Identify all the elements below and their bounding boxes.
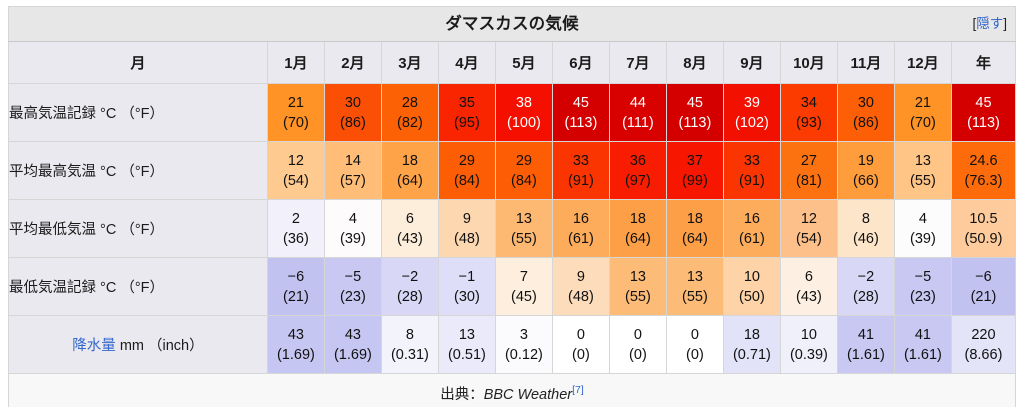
table-row: 平均最高気温 °C （°F） 12(54)14(57)18(64)29(84)2… [9, 142, 1016, 200]
cell-value-fahrenheit: (54) [781, 229, 837, 249]
cell-value-celsius: 10 [724, 267, 780, 287]
cell-value-fahrenheit: (0.71) [724, 345, 780, 365]
hide-link-label[interactable]: 隠す [976, 16, 1003, 31]
data-cell: 29(84) [495, 142, 552, 200]
cell-value-celsius: 45 [553, 93, 609, 113]
cell-value-celsius: 37 [667, 151, 723, 171]
cell-value-fahrenheit: (45) [496, 287, 552, 307]
data-cell: 10(0.39) [780, 316, 837, 374]
column-header-jun: 6月 [552, 42, 609, 84]
cell-value-fahrenheit: (64) [667, 229, 723, 249]
column-header-aug: 8月 [666, 42, 723, 84]
cell-value-fahrenheit: (55) [667, 287, 723, 307]
row-label-record-low: 最低気温記録 °C （°F） [9, 258, 268, 316]
cell-value-celsius: 38 [496, 93, 552, 113]
data-cell: 18(64) [666, 200, 723, 258]
cell-value-celsius: 35 [439, 93, 495, 113]
data-cell: 45(113) [666, 84, 723, 142]
cell-value-fahrenheit: (43) [781, 287, 837, 307]
data-cell: 18(64) [381, 142, 438, 200]
data-cell: 24.6(76.3) [951, 142, 1015, 200]
source-row: 出典：BBC Weather[7] [9, 374, 1016, 407]
cell-value-celsius: 33 [553, 151, 609, 171]
column-header-dec: 12月 [894, 42, 951, 84]
data-cell: 18(64) [609, 200, 666, 258]
cell-value-celsius: 44 [610, 93, 666, 113]
cell-value-celsius: 14 [325, 151, 381, 171]
cell-value-fahrenheit: (70) [895, 113, 951, 133]
cell-value-fahrenheit: (0) [553, 345, 609, 365]
cell-value-fahrenheit: (0.39) [781, 345, 837, 365]
data-cell: 34(93) [780, 84, 837, 142]
climate-table-body: ダマスカスの気候 [隠す] 月 1月 2月 3月 4月 5月 6月 7月 8月 … [9, 7, 1016, 407]
data-cell: −2(28) [837, 258, 894, 316]
cell-value-celsius: 45 [667, 93, 723, 113]
cell-value-fahrenheit: (84) [439, 171, 495, 191]
cell-value-celsius: 10.5 [952, 209, 1015, 229]
cell-value-celsius: −6 [952, 267, 1015, 287]
cell-value-celsius: 16 [553, 209, 609, 229]
cell-value-celsius: −6 [268, 267, 324, 287]
row-label-precipitation: 降水量 mm （inch） [9, 316, 268, 374]
cell-value-fahrenheit: (55) [610, 287, 666, 307]
cell-value-fahrenheit: (1.69) [268, 345, 324, 365]
data-cell: 33(91) [723, 142, 780, 200]
cell-value-celsius: 24.6 [952, 151, 1015, 171]
cell-value-fahrenheit: (0) [667, 345, 723, 365]
cell-value-fahrenheit: (48) [439, 229, 495, 249]
data-cell: 4(39) [324, 200, 381, 258]
data-cell: 0(0) [552, 316, 609, 374]
cell-value-celsius: 220 [952, 325, 1015, 345]
data-cell: −2(28) [381, 258, 438, 316]
bracket-close: ] [1003, 16, 1007, 31]
cell-value-fahrenheit: (36) [268, 229, 324, 249]
cell-value-fahrenheit: (54) [268, 171, 324, 191]
source-cell: 出典：BBC Weather[7] [9, 374, 1016, 407]
cell-value-fahrenheit: (0.12) [496, 345, 552, 365]
data-cell: 45(113) [951, 84, 1015, 142]
cell-value-celsius: 30 [325, 93, 381, 113]
cell-value-celsius: 34 [781, 93, 837, 113]
data-cell: 13(55) [609, 258, 666, 316]
cell-value-celsius: 12 [268, 151, 324, 171]
column-header-year: 年 [951, 42, 1015, 84]
cell-value-fahrenheit: (23) [895, 287, 951, 307]
cell-value-fahrenheit: (64) [382, 171, 438, 191]
cell-value-fahrenheit: (28) [382, 287, 438, 307]
data-cell: 33(91) [552, 142, 609, 200]
column-header-month: 月 [9, 42, 268, 84]
hide-toggle[interactable]: [隠す] [972, 7, 1007, 41]
cell-value-fahrenheit: (21) [952, 287, 1015, 307]
cell-value-celsius: −2 [382, 267, 438, 287]
cell-value-fahrenheit: (21) [268, 287, 324, 307]
data-cell: 6(43) [780, 258, 837, 316]
cell-value-fahrenheit: (39) [325, 229, 381, 249]
cell-value-celsius: 3 [496, 325, 552, 345]
cell-value-fahrenheit: (61) [724, 229, 780, 249]
data-cell: 44(111) [609, 84, 666, 142]
cell-value-celsius: 45 [952, 93, 1015, 113]
cell-value-celsius: 13 [667, 267, 723, 287]
cell-value-celsius: 6 [382, 209, 438, 229]
page-title: ダマスカスの気候 [445, 15, 579, 33]
cell-value-celsius: 6 [781, 267, 837, 287]
table-title-cell: ダマスカスの気候 [隠す] [9, 7, 1016, 42]
table-title-row: ダマスカスの気候 [隠す] [9, 7, 1016, 42]
cell-value-fahrenheit: (93) [781, 113, 837, 133]
column-header-nov: 11月 [837, 42, 894, 84]
data-cell: 6(43) [381, 200, 438, 258]
cell-value-fahrenheit: (30) [439, 287, 495, 307]
column-header-jul: 7月 [609, 42, 666, 84]
cell-value-fahrenheit: (0.51) [439, 345, 495, 365]
cell-value-celsius: 36 [610, 151, 666, 171]
data-cell: 30(86) [837, 84, 894, 142]
table-row: 最低気温記録 °C （°F） −6(21)−5(23)−2(28)−1(30)7… [9, 258, 1016, 316]
cell-value-fahrenheit: (91) [724, 171, 780, 191]
data-cell: −5(23) [324, 258, 381, 316]
cell-value-fahrenheit: (113) [952, 113, 1015, 133]
data-cell: 13(55) [495, 200, 552, 258]
data-cell: 21(70) [267, 84, 324, 142]
cell-value-celsius: 18 [667, 209, 723, 229]
cell-value-fahrenheit: (61) [553, 229, 609, 249]
cell-value-celsius: 16 [724, 209, 780, 229]
data-cell: 220(8.66) [951, 316, 1015, 374]
data-cell: 13(55) [894, 142, 951, 200]
cell-value-celsius: 8 [382, 325, 438, 345]
cell-value-fahrenheit: (8.66) [952, 345, 1015, 365]
cell-value-celsius: 18 [382, 151, 438, 171]
cell-value-fahrenheit: (1.61) [895, 345, 951, 365]
data-cell: 18(0.71) [723, 316, 780, 374]
data-cell: 8(46) [837, 200, 894, 258]
cell-value-celsius: 10 [781, 325, 837, 345]
cell-value-fahrenheit: (70) [268, 113, 324, 133]
cell-value-fahrenheit: (102) [724, 113, 780, 133]
cell-value-celsius: 13 [610, 267, 666, 287]
cell-value-celsius: 12 [781, 209, 837, 229]
cell-value-fahrenheit: (43) [382, 229, 438, 249]
data-cell: 29(84) [438, 142, 495, 200]
data-cell: 16(61) [723, 200, 780, 258]
cell-value-celsius: 13 [496, 209, 552, 229]
data-cell: 28(82) [381, 84, 438, 142]
data-cell: 10(50) [723, 258, 780, 316]
data-cell: −6(21) [267, 258, 324, 316]
data-cell: 41(1.61) [894, 316, 951, 374]
cell-value-celsius: 2 [268, 209, 324, 229]
table-row: 平均最低気温 °C （°F） 2(36)4(39)6(43)9(48)13(55… [9, 200, 1016, 258]
row-label-text: mm （inch） [116, 338, 204, 354]
cell-value-fahrenheit: (97) [610, 171, 666, 191]
data-cell: 21(70) [894, 84, 951, 142]
cell-value-fahrenheit: (76.3) [952, 171, 1015, 191]
row-label-mean-high: 平均最高気温 °C （°F） [9, 142, 268, 200]
source-reference[interactable]: [7] [572, 384, 584, 396]
cell-value-fahrenheit: (55) [496, 229, 552, 249]
cell-value-celsius: 43 [268, 325, 324, 345]
cell-value-fahrenheit: (100) [496, 113, 552, 133]
data-cell: 38(100) [495, 84, 552, 142]
data-cell: 43(1.69) [324, 316, 381, 374]
cell-value-celsius: 21 [268, 93, 324, 113]
cell-value-fahrenheit: (81) [781, 171, 837, 191]
cell-value-celsius: 13 [439, 325, 495, 345]
climate-table: ダマスカスの気候 [隠す] 月 1月 2月 3月 4月 5月 6月 7月 8月 … [8, 6, 1016, 407]
data-cell: 16(61) [552, 200, 609, 258]
data-cell: 13(0.51) [438, 316, 495, 374]
data-cell: 43(1.69) [267, 316, 324, 374]
data-cell: 8(0.31) [381, 316, 438, 374]
cell-value-fahrenheit: (113) [553, 113, 609, 133]
data-cell: 14(57) [324, 142, 381, 200]
data-cell: 30(86) [324, 84, 381, 142]
column-header-feb: 2月 [324, 42, 381, 84]
cell-value-fahrenheit: (46) [838, 229, 894, 249]
cell-value-celsius: 4 [895, 209, 951, 229]
data-cell: 39(102) [723, 84, 780, 142]
cell-value-celsius: 0 [667, 325, 723, 345]
cell-value-fahrenheit: (111) [610, 113, 666, 133]
cell-value-fahrenheit: (66) [838, 171, 894, 191]
cell-value-fahrenheit: (39) [895, 229, 951, 249]
data-cell: 3(0.12) [495, 316, 552, 374]
cell-value-fahrenheit: (0.31) [382, 345, 438, 365]
cell-value-fahrenheit: (82) [382, 113, 438, 133]
data-cell: 12(54) [780, 200, 837, 258]
cell-value-celsius: −1 [439, 267, 495, 287]
column-header-jan: 1月 [267, 42, 324, 84]
data-cell: −1(30) [438, 258, 495, 316]
cell-value-celsius: 33 [724, 151, 780, 171]
cell-value-fahrenheit: (84) [496, 171, 552, 191]
data-cell: 12(54) [267, 142, 324, 200]
table-row: 降水量 mm （inch） 43(1.69)43(1.69)8(0.31)13(… [9, 316, 1016, 374]
cell-value-celsius: 21 [895, 93, 951, 113]
cell-value-celsius: 9 [553, 267, 609, 287]
cell-value-celsius: 41 [838, 325, 894, 345]
cell-value-fahrenheit: (113) [667, 113, 723, 133]
cell-value-celsius: 41 [895, 325, 951, 345]
cell-value-celsius: −2 [838, 267, 894, 287]
data-cell: 4(39) [894, 200, 951, 258]
data-cell: −6(21) [951, 258, 1015, 316]
cell-value-celsius: 7 [496, 267, 552, 287]
column-header-apr: 4月 [438, 42, 495, 84]
cell-value-celsius: 18 [610, 209, 666, 229]
column-header-sep: 9月 [723, 42, 780, 84]
cell-value-celsius: 4 [325, 209, 381, 229]
data-cell: 9(48) [438, 200, 495, 258]
row-label-text: 平均最低気温 °C （°F） [9, 222, 164, 238]
cell-value-fahrenheit: (86) [838, 113, 894, 133]
cell-value-celsius: 18 [724, 325, 780, 345]
data-cell: 7(45) [495, 258, 552, 316]
column-header-may: 5月 [495, 42, 552, 84]
cell-value-fahrenheit: (23) [325, 287, 381, 307]
source-name: BBC Weather [484, 387, 572, 403]
row-label-record-high: 最高気温記録 °C （°F） [9, 84, 268, 142]
cell-value-fahrenheit: (0) [610, 345, 666, 365]
cell-value-celsius: 43 [325, 325, 381, 345]
cell-value-celsius: 27 [781, 151, 837, 171]
data-cell: 13(55) [666, 258, 723, 316]
cell-value-celsius: 30 [838, 93, 894, 113]
cell-value-fahrenheit: (48) [553, 287, 609, 307]
cell-value-fahrenheit: (99) [667, 171, 723, 191]
data-cell: 0(0) [609, 316, 666, 374]
cell-value-fahrenheit: (57) [325, 171, 381, 191]
row-label-text: 最高気温記録 °C （°F） [9, 106, 164, 122]
cell-value-fahrenheit: (95) [439, 113, 495, 133]
cell-value-fahrenheit: (91) [553, 171, 609, 191]
cell-value-celsius: −5 [325, 267, 381, 287]
column-header-mar: 3月 [381, 42, 438, 84]
cell-value-celsius: −5 [895, 267, 951, 287]
data-cell: 9(48) [552, 258, 609, 316]
cell-value-fahrenheit: (1.69) [325, 345, 381, 365]
cell-value-celsius: 29 [496, 151, 552, 171]
data-cell: 27(81) [780, 142, 837, 200]
data-cell: −5(23) [894, 258, 951, 316]
cell-value-fahrenheit: (64) [610, 229, 666, 249]
precipitation-link[interactable]: 降水量 [72, 338, 116, 354]
column-header-oct: 10月 [780, 42, 837, 84]
cell-value-fahrenheit: (1.61) [838, 345, 894, 365]
cell-value-celsius: 8 [838, 209, 894, 229]
cell-value-fahrenheit: (86) [325, 113, 381, 133]
data-cell: 0(0) [666, 316, 723, 374]
data-cell: 37(99) [666, 142, 723, 200]
data-cell: 45(113) [552, 84, 609, 142]
climate-table-container: ダマスカスの気候 [隠す] 月 1月 2月 3月 4月 5月 6月 7月 8月 … [0, 0, 1024, 407]
title-inner: ダマスカスの気候 [隠す] [9, 7, 1015, 41]
data-cell: 19(66) [837, 142, 894, 200]
data-cell: 10.5(50.9) [951, 200, 1015, 258]
cell-value-fahrenheit: (55) [895, 171, 951, 191]
cell-value-celsius: 0 [610, 325, 666, 345]
cell-value-celsius: 39 [724, 93, 780, 113]
cell-value-fahrenheit: (50.9) [952, 229, 1015, 249]
data-cell: 35(95) [438, 84, 495, 142]
data-cell: 36(97) [609, 142, 666, 200]
table-row: 最高気温記録 °C （°F） 21(70)30(86)28(82)35(95)3… [9, 84, 1016, 142]
cell-value-fahrenheit: (50) [724, 287, 780, 307]
row-label-mean-low: 平均最低気温 °C （°F） [9, 200, 268, 258]
row-label-text: 平均最高気温 °C （°F） [9, 164, 164, 180]
row-label-text: 最低気温記録 °C （°F） [9, 280, 164, 296]
data-cell: 41(1.61) [837, 316, 894, 374]
cell-value-fahrenheit: (28) [838, 287, 894, 307]
cell-value-celsius: 0 [553, 325, 609, 345]
cell-value-celsius: 19 [838, 151, 894, 171]
cell-value-celsius: 13 [895, 151, 951, 171]
cell-value-celsius: 28 [382, 93, 438, 113]
cell-value-celsius: 29 [439, 151, 495, 171]
source-prefix: 出典： [440, 387, 484, 403]
cell-value-celsius: 9 [439, 209, 495, 229]
column-header-row: 月 1月 2月 3月 4月 5月 6月 7月 8月 9月 10月 11月 12月… [9, 42, 1016, 84]
data-cell: 2(36) [267, 200, 324, 258]
